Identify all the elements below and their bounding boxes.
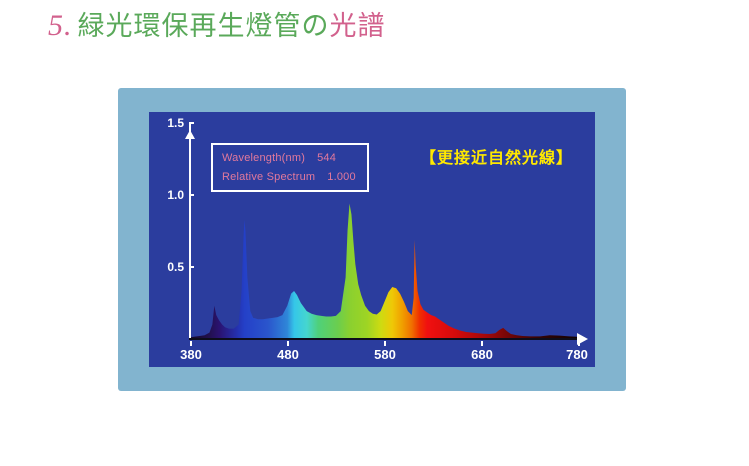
x-axis bbox=[189, 338, 579, 340]
readout-value-wavelength: 544 bbox=[305, 152, 336, 164]
readout-row-relative-spectrum: Relative Spectrum1.000 bbox=[222, 171, 356, 183]
title-text-pink: 光譜 bbox=[330, 11, 386, 41]
y-axis bbox=[189, 123, 191, 340]
y-label-2: 1.5 bbox=[152, 116, 184, 130]
readout-label-relative-spectrum: Relative Spectrum bbox=[222, 171, 315, 183]
y-label-1: 1.0 bbox=[152, 188, 184, 202]
y-axis-arrow-icon bbox=[185, 130, 195, 139]
x-label-1: 480 bbox=[266, 347, 310, 362]
annotation-natural-light: 【更接近自然光線】 bbox=[420, 144, 573, 168]
readout-label-wavelength: Wavelength(nm) bbox=[222, 152, 305, 164]
x-tick-580 bbox=[384, 341, 386, 346]
x-tick-380 bbox=[190, 341, 192, 346]
x-label-3: 680 bbox=[460, 347, 504, 362]
title-number: 5. bbox=[48, 9, 78, 42]
y-tick-1.0 bbox=[189, 194, 194, 196]
y-tick-0.5 bbox=[189, 266, 194, 268]
x-tick-480 bbox=[287, 341, 289, 346]
page-title: 5.緑光環保再生燈管の光譜 bbox=[48, 4, 386, 43]
x-tick-780 bbox=[578, 341, 580, 346]
x-label-0: 380 bbox=[169, 347, 213, 362]
spectrum-readout-box: Wavelength(nm)544 Relative Spectrum1.000 bbox=[211, 143, 369, 192]
chart-frame: 0.5 1.0 1.5 380 480 580 680 780 Waveleng… bbox=[118, 88, 626, 391]
spectrum-plot-panel: 0.5 1.0 1.5 380 480 580 680 780 Waveleng… bbox=[149, 112, 595, 367]
readout-value-relative-spectrum: 1.000 bbox=[315, 171, 356, 183]
x-tick-680 bbox=[481, 341, 483, 346]
x-label-2: 580 bbox=[363, 347, 407, 362]
y-tick-1.5 bbox=[189, 122, 194, 124]
readout-row-wavelength: Wavelength(nm)544 bbox=[222, 152, 336, 164]
y-label-0: 0.5 bbox=[152, 260, 184, 274]
title-text-green: 緑光環保再生燈管の bbox=[78, 11, 330, 41]
x-label-4: 780 bbox=[555, 347, 595, 362]
